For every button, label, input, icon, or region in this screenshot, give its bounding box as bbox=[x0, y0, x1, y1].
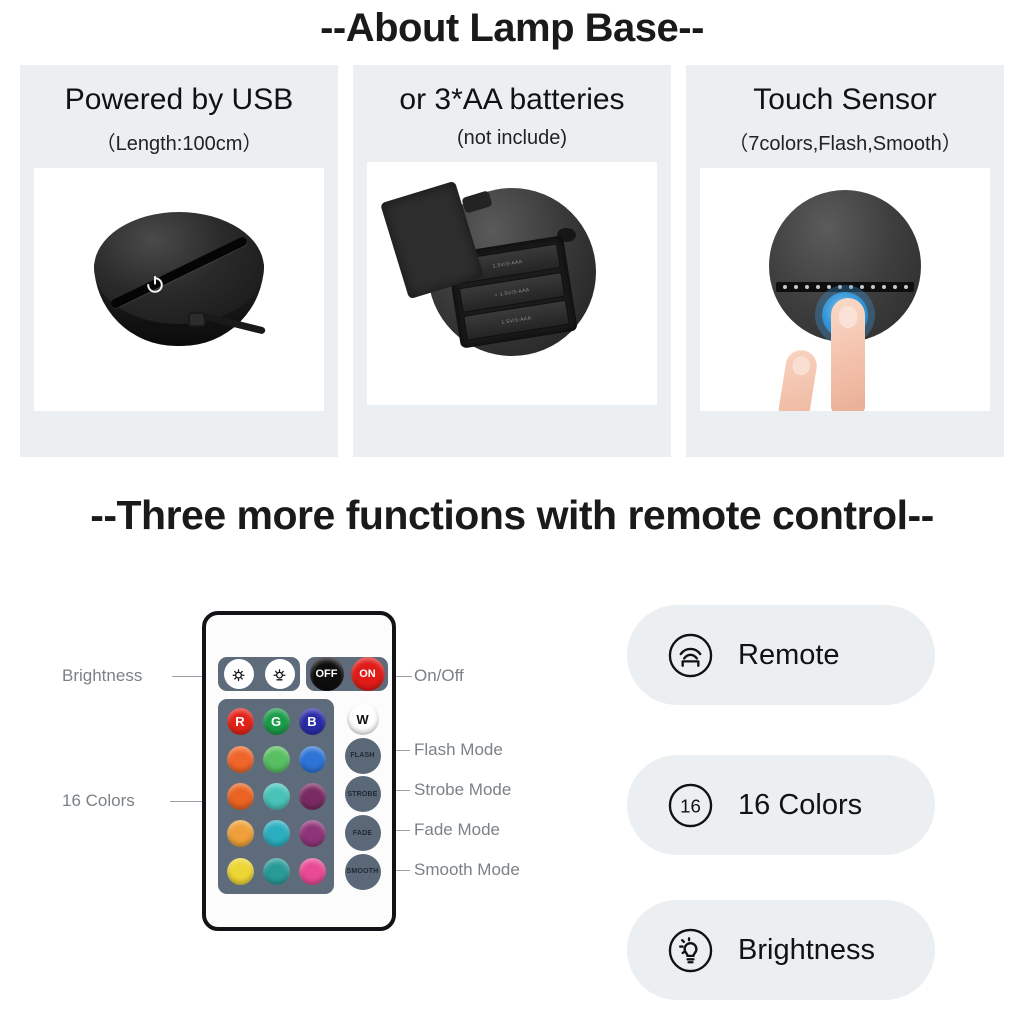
feature-label: Brightness bbox=[738, 934, 875, 967]
flash-mode-button[interactable]: FLASH bbox=[345, 738, 381, 774]
power-button-icon bbox=[144, 274, 166, 296]
panel-title: Touch Sensor bbox=[753, 83, 936, 118]
feature-pill-16-colors: 16 16 Colors bbox=[627, 755, 935, 855]
color-button-green[interactable]: G bbox=[263, 708, 290, 735]
panel-touch-sensor: Touch Sensor （7colors,Flash,Smooth） bbox=[686, 65, 1004, 457]
callout-strobe-mode: Strobe Mode bbox=[414, 780, 511, 800]
sun-minus-icon bbox=[271, 666, 288, 683]
sun-plus-icon bbox=[230, 666, 247, 683]
color-button-orange[interactable] bbox=[227, 746, 254, 773]
color-button-darkorange[interactable] bbox=[227, 783, 254, 810]
lamp-base-feature-panels: Powered by USB （Length:100cm） or 3*AA ba… bbox=[20, 65, 1004, 457]
panel-aa-batteries: or 3*AA batteries (not include) 1.5V/3-A… bbox=[353, 65, 671, 457]
color-button-purple[interactable] bbox=[299, 783, 326, 810]
color-button-turquoise[interactable] bbox=[263, 783, 290, 810]
finger-pressing-button bbox=[831, 298, 865, 411]
mode-button-column: W FLASH STROBE FADE SMOOTH bbox=[337, 699, 388, 894]
smooth-mode-button[interactable]: SMOOTH bbox=[345, 854, 381, 890]
led-strip-slot bbox=[776, 282, 914, 292]
callout-fade-mode: Fade Mode bbox=[414, 820, 500, 840]
battery-compartment-photo: 1.5V/3-AAA + 1.5V/3-AAA 1.5V/3-AAA bbox=[367, 162, 657, 405]
color-button-lightgreen[interactable] bbox=[263, 746, 290, 773]
color-button-pad: R G B bbox=[218, 699, 334, 894]
color-button-teal[interactable] bbox=[263, 858, 290, 885]
brightness-down-button[interactable] bbox=[265, 659, 295, 689]
finger-secondary bbox=[778, 347, 819, 410]
brightness-up-button[interactable] bbox=[224, 659, 254, 689]
brightness-button-pad bbox=[218, 657, 300, 691]
callout-smooth-mode: Smooth Mode bbox=[414, 860, 520, 880]
panel-subtitle: (not include) bbox=[457, 127, 567, 150]
strobe-mode-button[interactable]: STROBE bbox=[345, 776, 381, 812]
power-button-pad: OFF ON bbox=[306, 657, 388, 691]
color-button-white[interactable]: W bbox=[347, 703, 379, 735]
bulb-brightness-icon bbox=[667, 927, 714, 974]
panel-subtitle: （7colors,Flash,Smooth） bbox=[728, 127, 961, 156]
color-button-pink[interactable] bbox=[299, 858, 326, 885]
acrylic-panel-slot bbox=[110, 235, 249, 309]
callout-flash-mode: Flash Mode bbox=[414, 740, 503, 760]
panel-powered-by-usb: Powered by USB （Length:100cm） bbox=[20, 65, 338, 457]
off-button[interactable]: OFF bbox=[310, 657, 344, 691]
usb-lamp-base-photo bbox=[34, 168, 324, 411]
lamp-base-top bbox=[94, 212, 264, 324]
remote-control[interactable]: OFF ON R G B bbox=[202, 611, 396, 931]
feature-pill-remote: Remote bbox=[627, 605, 935, 705]
touch-sensor-photo bbox=[700, 168, 990, 411]
callout-16-colors: 16 Colors bbox=[62, 791, 135, 811]
color-button-blue[interactable]: B bbox=[299, 708, 326, 735]
sixteen-badge-text: 16 bbox=[680, 795, 701, 816]
remote-signal-icon bbox=[667, 632, 714, 679]
color-button-cyan[interactable] bbox=[263, 820, 290, 847]
color-button-magenta[interactable] bbox=[299, 820, 326, 847]
page-title-about-lamp-base: --About Lamp Base-- bbox=[0, 6, 1024, 51]
color-button-red[interactable]: R bbox=[227, 708, 254, 735]
callout-brightness: Brightness bbox=[62, 666, 142, 686]
color-button-yellow[interactable] bbox=[227, 858, 254, 885]
color-button-amber[interactable] bbox=[227, 820, 254, 847]
color-button-lightblue[interactable] bbox=[299, 746, 326, 773]
feature-label: 16 Colors bbox=[738, 789, 862, 822]
page-title-three-more-functions: --Three more functions with remote contr… bbox=[0, 492, 1024, 539]
fade-mode-button[interactable]: FADE bbox=[345, 815, 381, 851]
panel-title: Powered by USB bbox=[65, 83, 293, 118]
feature-pill-brightness: Brightness bbox=[627, 900, 935, 1000]
lamp-product-infographic: --About Lamp Base-- Powered by USB （Leng… bbox=[0, 0, 1024, 1024]
panel-subtitle: （Length:100cm） bbox=[96, 127, 263, 156]
on-button[interactable]: ON bbox=[351, 657, 385, 691]
remote-body: OFF ON R G B bbox=[202, 611, 396, 931]
feature-label: Remote bbox=[738, 639, 840, 672]
panel-title: or 3*AA batteries bbox=[399, 83, 624, 118]
callout-on-off: On/Off bbox=[414, 666, 464, 686]
sixteen-circle-icon: 16 bbox=[667, 782, 714, 829]
